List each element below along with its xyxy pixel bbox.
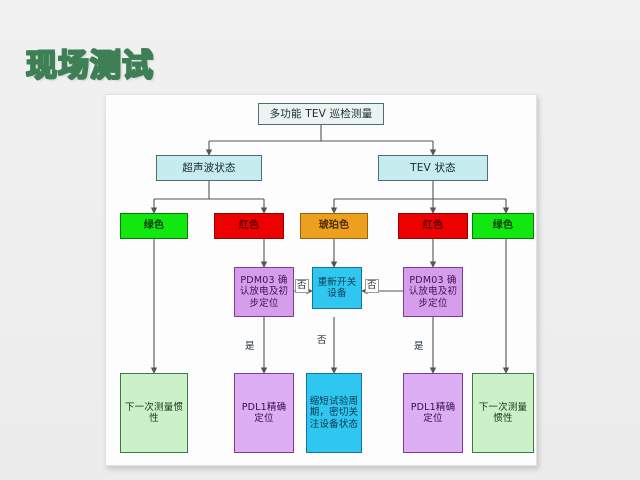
flowchart-diagram: 多功能 TEV 巡检测量 超声波状态 TEV 状态 绿色 红色 琥珀色 红色 bbox=[106, 95, 536, 465]
node-label: 琥珀色 bbox=[317, 220, 352, 232]
node-label: 多功能 TEV 巡检测量 bbox=[268, 108, 375, 120]
node-tev-amber[interactable]: 琥珀色 bbox=[300, 213, 368, 239]
node-pdl1-precise-left[interactable]: PDL1精确定位 bbox=[234, 373, 294, 453]
node-label: PDM03 确认放电及初步定位 bbox=[404, 275, 462, 309]
node-label: 超声波状态 bbox=[180, 162, 238, 174]
node-shorten-test-cycle[interactable]: 缩短试验周期，密切关注设备状态 bbox=[306, 373, 362, 453]
node-label: 重新开关设备 bbox=[313, 277, 361, 299]
node-ultrasonic-green[interactable]: 绿色 bbox=[120, 213, 188, 239]
edge-label-no-center: 否 bbox=[317, 332, 327, 346]
node-label: 红色 bbox=[421, 220, 445, 232]
node-label: PDL1精确定位 bbox=[404, 402, 462, 424]
node-label: 红色 bbox=[237, 220, 261, 232]
edge-label-no-left: 否 bbox=[295, 279, 309, 293]
node-pdm03-confirm-right[interactable]: PDM03 确认放电及初步定位 bbox=[403, 267, 463, 317]
node-pdm03-confirm-left[interactable]: PDM03 确认放电及初步定位 bbox=[234, 267, 294, 317]
node-ultrasonic-red[interactable]: 红色 bbox=[214, 213, 284, 239]
node-label: 绿色 bbox=[142, 220, 166, 232]
node-ultrasonic-status[interactable]: 超声波状态 bbox=[156, 155, 262, 181]
node-next-measurement-right[interactable]: 下一次测量惯性 bbox=[472, 373, 534, 453]
node-pdl1-precise-right[interactable]: PDL1精确定位 bbox=[403, 373, 463, 453]
edge-label-yes-right: 是 bbox=[414, 338, 424, 352]
flowchart-panel: 多功能 TEV 巡检测量 超声波状态 TEV 状态 绿色 红色 琥珀色 红色 bbox=[105, 94, 537, 466]
node-tev-status[interactable]: TEV 状态 bbox=[378, 155, 488, 181]
node-multifunction-tev-inspection[interactable]: 多功能 TEV 巡检测量 bbox=[258, 103, 384, 125]
edge-label-yes-left: 是 bbox=[245, 338, 255, 352]
page-title: 现场测试 bbox=[26, 40, 154, 85]
node-next-measurement-left[interactable]: 下一次测量惯性 bbox=[120, 373, 188, 453]
node-label: 下一次测量惯性 bbox=[121, 402, 187, 424]
node-label: PDL1精确定位 bbox=[235, 402, 293, 424]
edge-label-no-right: 否 bbox=[365, 279, 379, 293]
node-tev-green[interactable]: 绿色 bbox=[472, 213, 534, 239]
node-tev-red[interactable]: 红色 bbox=[398, 213, 468, 239]
node-label: 下一次测量惯性 bbox=[473, 402, 533, 424]
slide-canvas: 现场测试 bbox=[0, 0, 640, 480]
node-label: TEV 状态 bbox=[408, 162, 458, 174]
node-label: 缩短试验周期，密切关注设备状态 bbox=[307, 396, 361, 430]
node-label: 绿色 bbox=[491, 220, 515, 232]
node-label: PDM03 确认放电及初步定位 bbox=[235, 275, 293, 309]
node-reswitch-equipment[interactable]: 重新开关设备 bbox=[312, 267, 362, 309]
